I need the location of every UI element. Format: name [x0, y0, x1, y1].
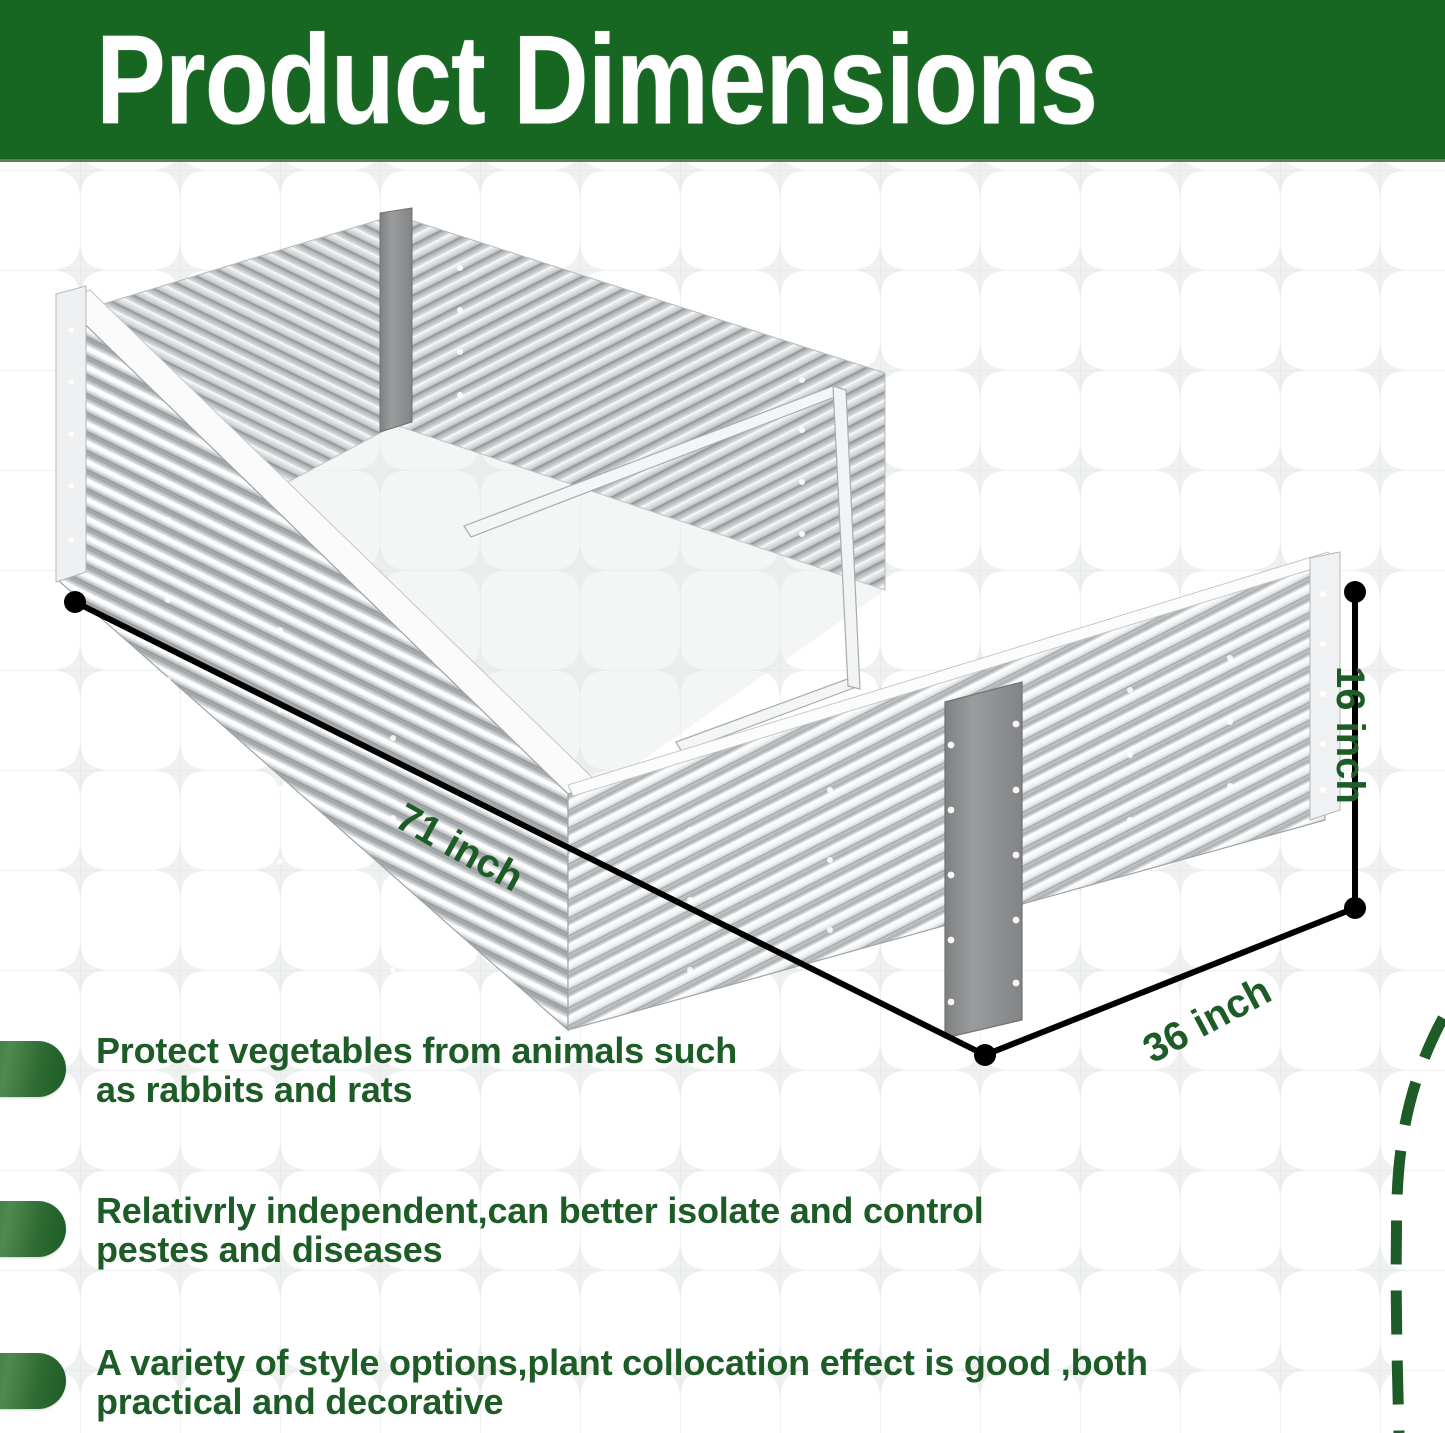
- bullet-marker-icon: [0, 1201, 66, 1257]
- feature-line-1: A variety of style options,plant colloca…: [96, 1344, 1148, 1383]
- feature-line-1: Protect vegetables from animals such: [96, 1032, 737, 1071]
- product-illustration-raised-garden-bed: [40, 190, 1420, 1080]
- bed-corner-post-left: [56, 286, 86, 582]
- bullet-marker-icon: [0, 1353, 66, 1409]
- product-dimensions-infographic: Product Dimensions: [0, 0, 1445, 1433]
- feature-item-1: Protect vegetables from animals such as …: [0, 1032, 1330, 1110]
- feature-list: Protect vegetables from animals such as …: [0, 1032, 1445, 1433]
- feature-line-1: Relativrly independent,can better isolat…: [96, 1192, 984, 1231]
- feature-line-2: as rabbits and rats: [96, 1071, 737, 1110]
- feature-item-3: A variety of style options,plant colloca…: [0, 1344, 1330, 1422]
- feature-line-2: practical and decorative: [96, 1383, 1148, 1422]
- feature-item-2: Relativrly independent,can better isolat…: [0, 1192, 1330, 1270]
- dimension-label-height: 16 inch: [1327, 666, 1372, 804]
- bed-corner-post-near: [945, 682, 1022, 1038]
- bullet-marker-icon: [0, 1041, 66, 1097]
- header-banner: Product Dimensions: [0, 0, 1445, 162]
- feature-line-2: pestes and diseases: [96, 1231, 984, 1270]
- feature-text: A variety of style options,plant colloca…: [96, 1344, 1148, 1422]
- feature-text: Protect vegetables from animals such as …: [96, 1032, 737, 1110]
- page-title: Product Dimensions: [96, 16, 1097, 143]
- feature-text: Relativrly independent,can better isolat…: [96, 1192, 984, 1270]
- bed-corner-post-far: [380, 208, 412, 432]
